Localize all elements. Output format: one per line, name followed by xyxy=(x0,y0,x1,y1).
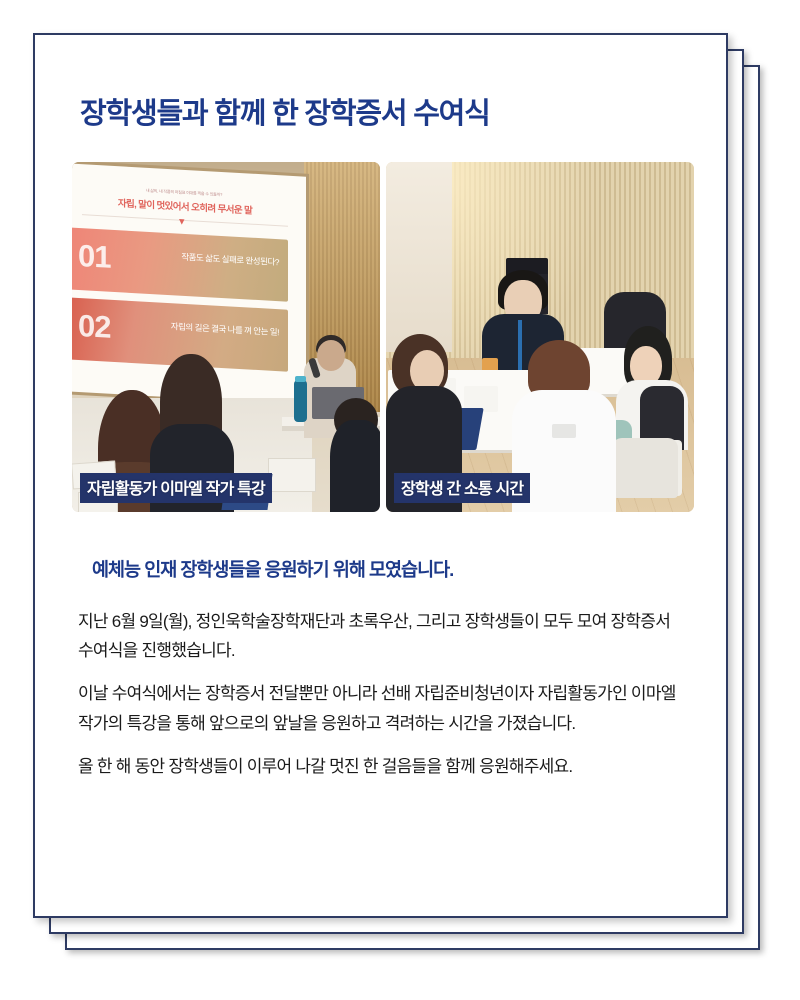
photo-lecture[interactable]: 내 삶의, 내 작품의 마침표 이대를 찍을 수 있을까? 자립, 말이 멋있어… xyxy=(72,162,380,512)
slide-item-1: 01 작품도 삶도 실패로 완성된다? xyxy=(72,227,288,301)
slide-item-2-number: 02 xyxy=(78,310,110,343)
article-body: 지난 6월 9일(월), 정인욱학술장학재단과 초록우산, 그리고 장학생들이 … xyxy=(78,607,694,781)
slide-item-1-text: 작품도 삶도 실패로 완성된다? xyxy=(181,251,279,268)
paragraph-3: 올 한 해 동안 장학생들이 이루어 나갈 멋진 한 걸음들을 함께 응원해주세… xyxy=(78,752,694,781)
paragraph-2: 이날 수여식에서는 장학증서 전달뿐만 아니라 선배 자립준비청년이자 자립활동… xyxy=(78,679,694,737)
photo-caption-lecture: 자립활동가 이마엘 작가 특강 xyxy=(80,473,272,503)
slide-item-1-number: 01 xyxy=(78,240,110,273)
photo-caption-discussion: 장학생 간 소통 시간 xyxy=(394,473,530,503)
photo-discussion[interactable]: 장학생 간 소통 시간 xyxy=(386,162,694,512)
photo-gallery: 내 삶의, 내 작품의 마침표 이대를 찍을 수 있을까? 자립, 말이 멋있어… xyxy=(72,162,694,512)
side-wall xyxy=(386,162,452,352)
page-title: 장학생들과 함께 한 장학증서 수여식 xyxy=(80,90,490,132)
paragraph-1: 지난 6월 9일(월), 정인욱학술장학재단과 초록우산, 그리고 장학생들이 … xyxy=(78,607,694,665)
chevron-down-icon: ▾ xyxy=(179,215,185,228)
slide-item-2-text: 자립의 길은 결국 나를 껴 안는 일! xyxy=(171,320,279,338)
lanyard-icon xyxy=(518,320,522,372)
page-root: 장학생들과 함께 한 장학증서 수여식 내 삶의, 내 작품의 마침표 이대를 … xyxy=(0,0,800,1000)
water-bottle-cap xyxy=(295,376,306,382)
speaker-head xyxy=(317,340,345,371)
water-bottle-icon xyxy=(294,380,307,422)
content-card: 장학생들과 함께 한 장학증서 수여식 내 삶의, 내 작품의 마침표 이대를 … xyxy=(33,33,728,918)
audience-person-3 xyxy=(330,420,380,512)
office-chair-2 xyxy=(612,438,678,498)
shirt-print-icon xyxy=(552,424,576,438)
section-subheading: 예체능 인재 장학생들을 응원하기 위해 모였습니다. xyxy=(92,556,453,582)
lecture-box-3 xyxy=(268,458,316,492)
